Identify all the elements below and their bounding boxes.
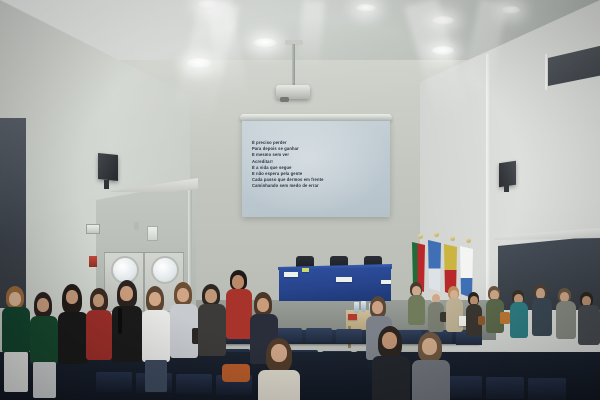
backpack-on-seat: [222, 364, 250, 382]
poem-line: Caminhando sem medo de errar: [252, 183, 384, 189]
flagpole-finial: [418, 234, 423, 239]
ceiling-light: [253, 38, 277, 48]
ceiling-light: [186, 58, 212, 69]
fire-equipment-sign: [89, 256, 97, 267]
torso: [408, 295, 425, 325]
auditorium-seat[interactable]: [306, 328, 332, 342]
water-bottle: [354, 302, 359, 313]
shoulder-bag: [478, 316, 485, 325]
torso: [142, 310, 170, 362]
auditorium-seat[interactable]: [96, 372, 132, 392]
head: [9, 292, 21, 306]
head: [382, 332, 397, 349]
auditorium-seat[interactable]: [486, 377, 524, 399]
projected-poem-text: É preciso perder Para depois se ganhar E…: [252, 140, 384, 190]
head: [232, 275, 244, 289]
torso: [412, 360, 450, 400]
flagpole-finial: [434, 232, 439, 237]
water-bottle: [361, 301, 366, 312]
ceiling-light: [356, 4, 376, 12]
projector-pole: [292, 44, 295, 86]
head: [149, 292, 161, 306]
projector-lens-icon: [280, 97, 289, 102]
ceiling-light: [502, 6, 520, 14]
torso: [226, 289, 252, 339]
document-on-table: [284, 272, 298, 277]
wall-speaker-left: [98, 153, 118, 181]
speaker-bracket-right: [504, 184, 509, 192]
held-paper: [459, 316, 466, 326]
emergency-exit-sign: [86, 224, 100, 234]
legs: [145, 360, 167, 392]
porthole-window-right: [151, 256, 179, 284]
shoulder-bag: [500, 312, 510, 324]
bag-strap: [118, 308, 122, 334]
torso: [578, 305, 600, 345]
legs: [4, 352, 28, 392]
head: [257, 298, 269, 312]
torso: [58, 312, 88, 364]
torso: [510, 302, 528, 338]
right-wall-corner-edge: [486, 54, 491, 304]
torso: [30, 316, 58, 364]
head: [66, 290, 78, 304]
ceiling-light: [432, 16, 454, 25]
document-on-table: [381, 280, 391, 284]
ceiling-light: [432, 46, 454, 55]
torso: [258, 370, 300, 400]
head: [422, 338, 437, 355]
auditorium-seat[interactable]: [528, 378, 566, 400]
head: [271, 344, 287, 362]
left-dark-panel: [0, 118, 26, 308]
head: [120, 286, 133, 301]
flagpole-finial: [466, 238, 471, 243]
head: [205, 289, 217, 303]
ceiling-light: [196, 0, 218, 9]
torso: [532, 298, 552, 336]
wall-fixture: [134, 222, 139, 230]
flagpole-finial: [450, 236, 455, 241]
legs: [33, 362, 56, 398]
torso: [112, 306, 142, 362]
speaker-bracket-left: [104, 180, 109, 189]
auditorium-seat[interactable]: [176, 374, 212, 394]
flag-blue-regional: [428, 240, 441, 292]
head: [372, 301, 383, 314]
flag-institution-white: [460, 246, 473, 298]
auditorium-photo: É preciso perder Para depois se ganhar E…: [0, 0, 600, 400]
torso: [372, 356, 410, 400]
sticky-note-on-table: [302, 268, 309, 272]
head: [37, 298, 49, 312]
torso: [198, 304, 226, 356]
screen-housing: [240, 114, 392, 121]
torso: [556, 301, 576, 339]
head: [93, 294, 104, 307]
torso: [86, 310, 112, 360]
auditorium-seat[interactable]: [336, 329, 362, 343]
document-on-table: [336, 277, 352, 282]
torso: [2, 307, 30, 353]
head: [177, 288, 189, 302]
object-on-side-table: [348, 314, 357, 320]
wall-notice-plate: [147, 226, 158, 241]
torso: [446, 298, 463, 332]
